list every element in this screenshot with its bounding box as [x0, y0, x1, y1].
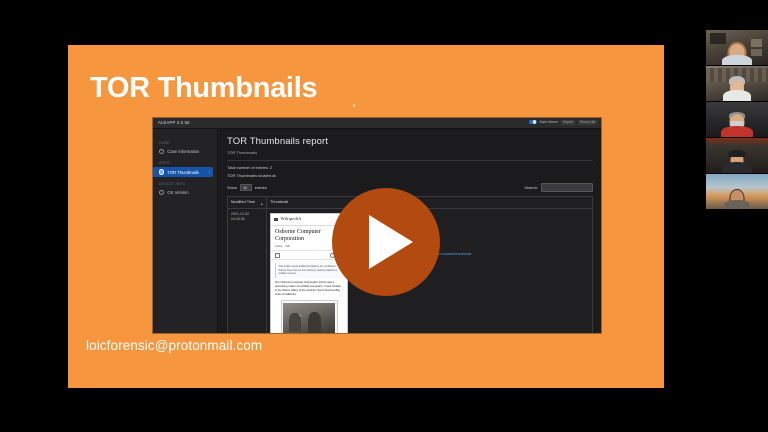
- hamburger-icon[interactable]: [274, 218, 278, 221]
- chevron-right-icon: ›: [209, 170, 210, 174]
- search-label: Search:: [524, 185, 538, 190]
- dark-theme-label: Dark theme: [540, 120, 559, 124]
- sidebar-section-case: Case: [159, 141, 217, 145]
- search-all-button[interactable]: Search all: [578, 120, 597, 125]
- table-search-control[interactable]: Search:: [524, 183, 593, 192]
- search-input[interactable]: [541, 183, 593, 192]
- column-header-label: Thumbnail: [270, 199, 288, 204]
- report-title: TOR Thumbnails report: [227, 136, 593, 147]
- app-brand-label: ALEAPP 3.0.50: [158, 120, 190, 125]
- column-header-label: Modified Time: [231, 199, 255, 204]
- report-entries-count: Total number of entries: 2: [227, 165, 593, 170]
- sidebar-item-label: Case Information: [167, 149, 199, 154]
- background-decor: [710, 33, 726, 44]
- wiki-tab-article[interactable]: Article: [275, 245, 282, 249]
- sidebar-section-device-info: Device Info: [159, 182, 217, 186]
- slide-contact-email: loicforensic@protonmail.com: [86, 338, 262, 353]
- divider: [227, 160, 593, 161]
- sidebar-item-label: OS Version: [167, 190, 188, 195]
- length-prefix-label: Show: [227, 185, 237, 190]
- report-location-line: TOR Thumbnails located at:: [227, 173, 593, 178]
- participant-torso: [723, 90, 751, 101]
- language-icon[interactable]: [275, 253, 280, 258]
- participant-cap: [729, 150, 746, 157]
- table-controls: Show 10 entries Search:: [227, 183, 593, 192]
- sort-arrow-icon[interactable]: ▲: [260, 202, 263, 206]
- length-suffix-label: entries: [255, 185, 267, 190]
- wiki-lead-paragraph: The Osborne Computer Corporation (OCC) w…: [275, 281, 343, 298]
- info-icon: [159, 149, 164, 154]
- play-button[interactable]: [332, 188, 440, 296]
- participant-tile-4[interactable]: [706, 138, 768, 173]
- sidebar-item-tor-thumbnails[interactable]: TOR Thumbnails ›: [153, 167, 213, 176]
- chip-icon: [159, 190, 164, 195]
- background-decor: [751, 49, 762, 56]
- sidebar-item-label: TOR Thumbnails: [167, 170, 199, 175]
- participant-tile-5[interactable]: [706, 174, 768, 209]
- participant-torso: [722, 162, 752, 173]
- report-subtitle: TOR Thumbnails: [227, 150, 593, 155]
- participant-torso: [724, 200, 750, 209]
- background-decor: [751, 39, 762, 47]
- mouse-cursor: [353, 104, 355, 107]
- sidebar-item-os-version[interactable]: OS Version: [153, 188, 217, 197]
- sidebar-section-apps: Apps: [159, 161, 217, 165]
- play-triangle-icon: [369, 215, 413, 269]
- length-select[interactable]: 10: [240, 184, 253, 192]
- wiki-photo-image: [283, 303, 335, 333]
- participant-torso: [721, 126, 753, 137]
- wiki-tab-talk[interactable]: Talk: [285, 245, 290, 249]
- participant-tile-2[interactable]: [706, 66, 768, 101]
- sidebar-item-case-information[interactable]: Case Information: [153, 147, 217, 156]
- app-titlebar: ALEAPP 3.0.50 Dark theme Export Search a…: [153, 118, 601, 129]
- table-length-control[interactable]: Show 10 entries: [227, 184, 267, 192]
- slide-title: TOR Thumbnails: [90, 72, 317, 105]
- wiki-figure: The Osborne 1 portable computer, with ke…: [281, 300, 338, 333]
- export-button[interactable]: Export: [561, 120, 575, 125]
- participant-torso: [722, 55, 752, 65]
- column-header-thumbnail[interactable]: Thumbnail: [267, 197, 592, 208]
- folder-icon: [159, 169, 164, 174]
- app-sidebar: Case Case Information Apps TOR Thumbnail…: [153, 129, 218, 333]
- cell-modified-time: 2021-12-02 04:25:26: [228, 209, 267, 333]
- titlebar-actions: Dark theme Export Search all: [529, 120, 597, 125]
- video-player-stage[interactable]: TOR Thumbnails ALEAPP 3.0.50 Dark theme …: [0, 0, 768, 432]
- participant-tile-3[interactable]: [706, 102, 768, 137]
- participant-strip: [706, 30, 768, 209]
- wiki-citation-notice: This article needs additional citations …: [275, 263, 343, 278]
- wikipedia-wordmark: WikipediA: [281, 216, 302, 222]
- dark-theme-toggle[interactable]: [529, 120, 537, 125]
- column-header-modified-time[interactable]: Modified Time ▲: [228, 197, 267, 208]
- participant-tile-1[interactable]: [706, 30, 768, 65]
